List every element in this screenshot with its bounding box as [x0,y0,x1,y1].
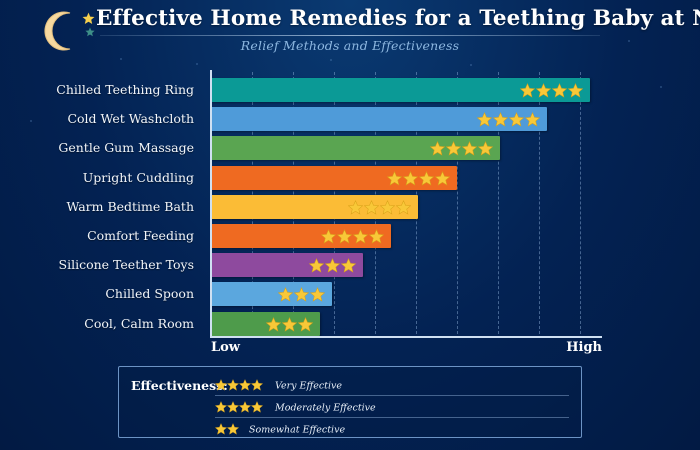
bar-star-rating [278,286,326,302]
star-icon [446,141,461,156]
legend-label: Somewhat Effective [249,424,345,435]
legend-title: Effectiveness: [131,378,228,393]
category-label: Comfort Feeding [87,228,194,243]
legend-star-rating [215,378,263,394]
star-icon [85,27,95,37]
bar-star-rating [430,140,494,156]
star-icon [278,287,293,302]
legend-label: Moderately Effective [275,402,376,413]
category-label: Cold Wet Washcloth [67,111,194,126]
page-subtitle: Relief Methods and Effectiveness [0,38,700,53]
star-icon [396,200,411,215]
infographic-poster: Effective Home Remedies for a Teething B… [0,0,700,450]
star-icon [435,171,450,186]
bar-chart-plot-area [211,72,602,334]
x-axis-high-label: High [566,340,602,355]
title-divider [100,35,600,36]
category-label: Upright Cuddling [83,170,194,185]
star-icon [82,12,95,25]
page-title: Effective Home Remedies for a Teething B… [96,6,608,31]
x-axis-line [210,336,602,338]
star-icon [568,83,583,98]
star-icon [215,423,227,435]
category-label: Cool, Calm Room [84,316,194,331]
bar-row[interactable] [211,78,590,102]
legend-star-rating [215,422,239,438]
bar-star-rating [266,316,314,332]
category-label: Silicone Teether Toys [59,257,194,272]
bar-row[interactable] [211,282,332,306]
star-icon [309,258,324,273]
poster-header: Effective Home Remedies for a Teething B… [0,0,700,62]
legend-row: Somewhat Effective [215,418,569,441]
star-icon [387,171,402,186]
star-icon [215,401,227,413]
star-icon [266,317,281,332]
star-icon [462,141,477,156]
background-star-dot [196,63,198,65]
star-icon [552,83,567,98]
legend-row: Moderately Effective [215,396,569,419]
star-icon [251,401,263,413]
star-icon [227,379,239,391]
star-icon [477,112,492,127]
bar-star-rating [321,228,385,244]
y-axis-line [210,70,212,336]
bar-star-rating [309,257,357,273]
star-icon [298,317,313,332]
star-icon [380,200,395,215]
star-icon [520,83,535,98]
star-icon [430,141,445,156]
star-icon [337,229,352,244]
star-icon [239,379,251,391]
star-icon [364,200,379,215]
star-icon [509,112,524,127]
star-icon [325,258,340,273]
legend-box: Effectiveness: Very EffectiveModerately … [118,366,582,438]
star-icon [353,229,368,244]
star-icon [282,317,297,332]
legend-label: Very Effective [275,380,342,391]
background-star-dot [660,86,662,88]
bar-row[interactable] [211,166,457,190]
bar-row[interactable] [211,253,363,277]
star-icon [348,200,363,215]
bar-row[interactable] [211,195,418,219]
star-icon [321,229,336,244]
star-icon [310,287,325,302]
star-icon [227,401,239,413]
star-icon [369,229,384,244]
category-label: Chilled Spoon [105,286,194,301]
x-axis-low-label: Low [211,340,240,355]
star-icon [341,258,356,273]
star-icon [478,141,493,156]
star-icon [536,83,551,98]
category-label: Warm Bedtime Bath [66,199,194,214]
star-icon [419,171,434,186]
bar-row[interactable] [211,224,391,248]
star-icon [239,401,251,413]
star-icon [403,171,418,186]
star-icon [215,379,227,391]
legend-row: Very Effective [215,374,569,397]
star-icon [525,112,540,127]
gridline [580,72,581,334]
category-label: Gentle Gum Massage [58,140,194,155]
star-icon [227,423,239,435]
bar-row[interactable] [211,107,547,131]
bar-star-rating [348,199,412,215]
bar-star-rating [477,111,541,127]
bar-star-rating [387,170,451,186]
bar-star-rating [520,82,584,98]
legend-star-rating [215,400,263,416]
bar-row[interactable] [211,312,320,336]
bar-row[interactable] [211,136,500,160]
star-icon [251,379,263,391]
star-icon [493,112,508,127]
background-star-dot [470,64,472,66]
category-label: Chilled Teething Ring [56,82,194,97]
category-label-column: Chilled Teething RingCold Wet WashclothG… [0,72,202,334]
star-icon [294,287,309,302]
